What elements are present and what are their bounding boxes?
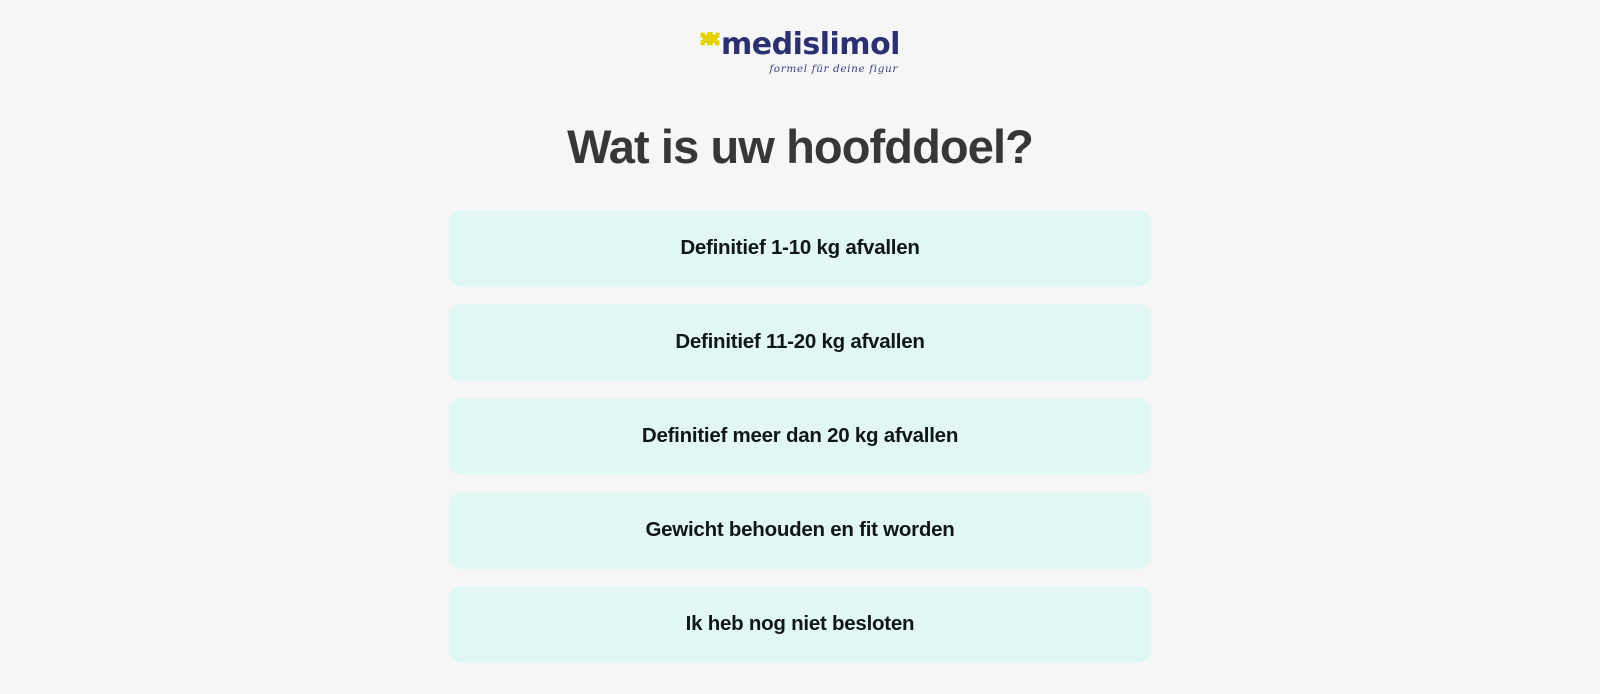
- option-card-1[interactable]: Definitief 1-10 kg afvallen: [449, 210, 1151, 287]
- option-card-3[interactable]: Definitief meer dan 20 kg afvallen: [449, 398, 1151, 475]
- option-label: Gewicht behouden en fit worden: [645, 520, 954, 541]
- option-label: Definitief 1-10 kg afvallen: [680, 238, 919, 259]
- option-label: Ik heb nog niet besloten: [686, 614, 915, 635]
- option-label: Definitief meer dan 20 kg afvallen: [642, 426, 958, 447]
- logo-mark-row: medislimol: [700, 30, 900, 60]
- goal-options-list: Definitief 1-10 kg afvallen Definitief 1…: [449, 210, 1151, 663]
- option-card-2[interactable]: Definitief 11-20 kg afvallen: [449, 304, 1151, 381]
- logo-tagline: formel für deine figur: [769, 63, 900, 75]
- quiz-page: medislimol formel für deine figur Wat is…: [0, 0, 1600, 694]
- option-card-4[interactable]: Gewicht behouden en fit worden: [449, 492, 1151, 569]
- brand-logo[interactable]: medislimol formel für deine figur: [700, 30, 900, 80]
- page-title: Wat is uw hoofddoel?: [567, 121, 1033, 173]
- option-card-5[interactable]: Ik heb nog niet besloten: [449, 586, 1151, 663]
- option-label: Definitief 11-20 kg afvallen: [675, 332, 924, 353]
- cross-flower-icon: [700, 32, 720, 52]
- logo-wordmark: medislimol: [721, 30, 900, 60]
